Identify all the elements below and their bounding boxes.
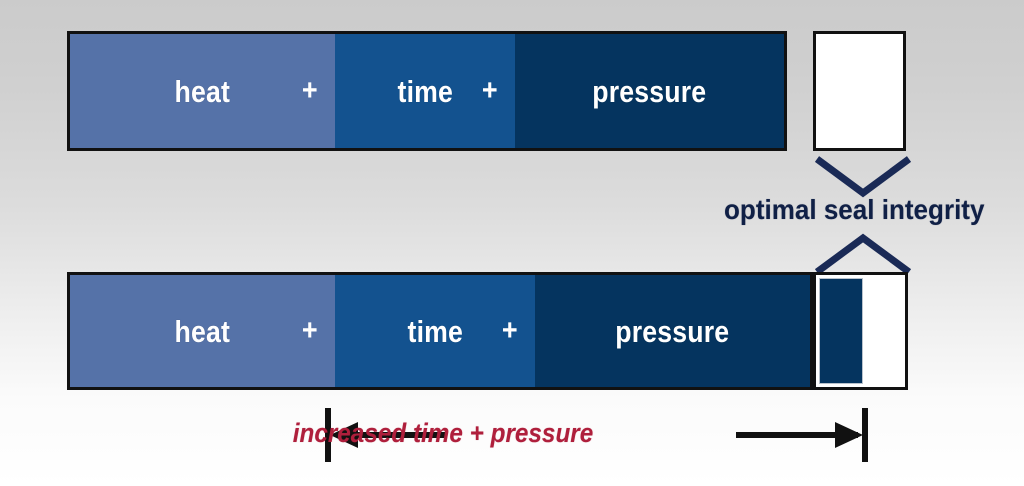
process-bar-standard: heat + time + pressure [67, 31, 787, 151]
segment-label-time: time [397, 76, 453, 107]
diagram-canvas: heat + time + pressure optimal seal inte… [0, 0, 1024, 486]
segment-heat-standard: heat + [70, 34, 335, 148]
result-box-standard [813, 31, 906, 151]
plus-icon: + [302, 316, 318, 346]
segment-label-heat: heat [175, 316, 231, 347]
seal-fill-enhanced [819, 278, 863, 384]
result-box-enhanced [813, 272, 908, 390]
process-bar-enhanced: heat + time + pressure [67, 272, 813, 390]
segment-time-enhanced: time + [335, 275, 535, 387]
chevron-down-icon [812, 153, 914, 199]
segment-label-pressure: pressure [615, 316, 729, 347]
dimension-label-increased-time-pressure: increased time + pressure [293, 420, 594, 447]
plus-icon: + [482, 76, 498, 106]
plus-icon: + [302, 76, 318, 106]
arrow-right-icon [835, 422, 863, 448]
segment-pressure-standard: pressure [515, 34, 784, 148]
segment-time-standard: time + [335, 34, 515, 148]
segment-label-time: time [407, 316, 463, 347]
segment-heat-enhanced: heat + [70, 275, 335, 387]
callout-optimal-seal-integrity: optimal seal integrity [724, 196, 984, 224]
segment-label-pressure: pressure [592, 76, 706, 107]
segment-pressure-enhanced: pressure [535, 275, 810, 387]
segment-label-heat: heat [175, 76, 231, 107]
plus-icon: + [502, 316, 518, 346]
